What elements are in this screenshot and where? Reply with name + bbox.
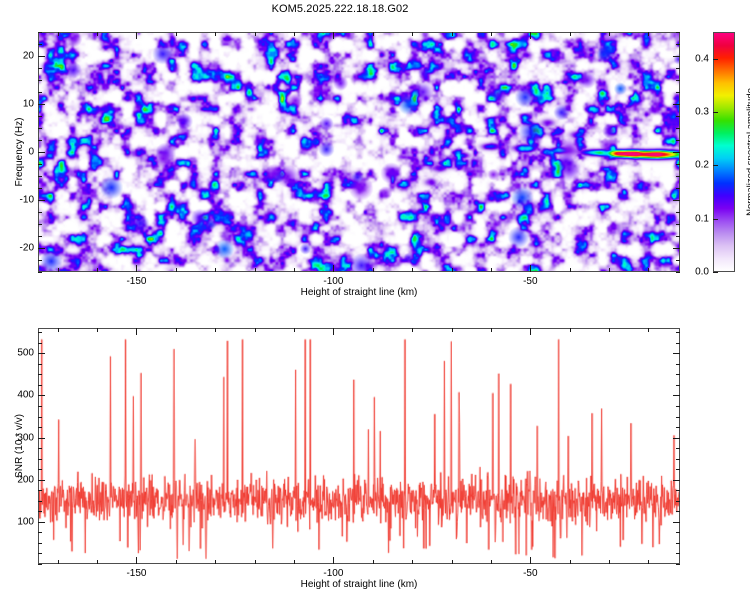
x-tick-minor (412, 560, 413, 564)
snr-y-axis-label: SNR (10 * v/v) (14, 414, 25, 478)
y-tick-minor-right (676, 92, 680, 93)
x-tick-minor (373, 268, 374, 272)
figure-root: KOM5.2025.222.18.18.G02 -150-100-5020100… (0, 0, 750, 600)
y-tick-minor (38, 417, 42, 418)
x-tick-minor (58, 560, 59, 564)
x-tick-minor-top (412, 328, 413, 332)
x-tick-minor (373, 560, 374, 564)
x-tick-minor-top (97, 32, 98, 36)
y-tick-minor-right (676, 532, 680, 533)
colorbar-tick (713, 59, 718, 60)
colorbar-label: Normalized spectral amplitude (745, 88, 750, 216)
snr-x-axis-label: Height of straight line (km) (301, 579, 418, 590)
x-tick-major (530, 265, 531, 272)
x-tick-minor-top (215, 32, 216, 36)
y-tick-label: -10 (4, 195, 34, 206)
y-tick-major-right (673, 395, 680, 396)
snr-plot (38, 328, 680, 564)
x-tick-minor-top (255, 32, 256, 36)
x-tick-minor-top (570, 328, 571, 332)
y-tick-minor (38, 44, 42, 45)
x-tick-minor (491, 268, 492, 272)
x-tick-minor-top (609, 32, 610, 36)
y-tick-minor (38, 406, 42, 407)
colorbar-tick (713, 219, 718, 220)
y-tick-major-right (673, 353, 680, 354)
y-tick-minor (38, 343, 42, 344)
page-title: KOM5.2025.222.18.18.G02 (0, 3, 680, 15)
x-tick-label: -150 (126, 568, 146, 579)
x-tick-minor (648, 560, 649, 564)
y-tick-minor (38, 564, 42, 565)
y-tick-label: 10 (4, 99, 34, 110)
x-tick-minor-top (412, 32, 413, 36)
x-tick-label: -50 (523, 276, 537, 287)
y-tick-minor (38, 532, 42, 533)
x-tick-minor-top (452, 32, 453, 36)
colorbar-tick-label: 0.0 (679, 267, 709, 278)
x-tick-minor-top (648, 328, 649, 332)
x-tick-minor-top (215, 328, 216, 332)
y-tick-major-right (673, 480, 680, 481)
spectrogram-y-axis-label: Frequency (Hz) (14, 118, 25, 187)
y-tick-minor (38, 164, 42, 165)
x-tick-minor-top (58, 328, 59, 332)
y-tick-minor (38, 188, 42, 189)
y-tick-minor (38, 427, 42, 428)
spectrogram-x-axis-label: Height of straight line (km) (301, 287, 418, 298)
x-tick-minor-top (176, 328, 177, 332)
x-tick-minor (255, 560, 256, 564)
y-tick-minor-right (676, 188, 680, 189)
y-tick-minor-right (676, 459, 680, 460)
y-tick-major-right (673, 248, 680, 249)
y-tick-minor-right (676, 32, 680, 33)
y-tick-major (38, 438, 45, 439)
y-tick-minor (38, 469, 42, 470)
x-tick-minor-top (609, 328, 610, 332)
y-tick-major (38, 104, 45, 105)
y-tick-minor (38, 128, 42, 129)
x-tick-minor (491, 560, 492, 564)
colorbar-tick (713, 112, 718, 113)
y-tick-label: 100 (4, 516, 34, 527)
y-tick-minor (38, 212, 42, 213)
y-tick-minor-right (676, 564, 680, 565)
y-tick-major-right (673, 522, 680, 523)
y-tick-minor-right (676, 343, 680, 344)
y-tick-minor-right (676, 469, 680, 470)
x-tick-minor-top (294, 32, 295, 36)
x-tick-major-top (333, 328, 334, 335)
y-tick-major-right (673, 200, 680, 201)
y-tick-label: 400 (4, 390, 34, 401)
y-tick-major (38, 200, 45, 201)
x-tick-minor (570, 560, 571, 564)
x-tick-major (333, 265, 334, 272)
y-tick-minor (38, 140, 42, 141)
y-tick-minor (38, 374, 42, 375)
x-tick-minor (215, 268, 216, 272)
y-tick-minor-right (676, 448, 680, 449)
y-tick-minor-right (676, 68, 680, 69)
x-tick-minor (294, 268, 295, 272)
y-tick-minor-right (676, 501, 680, 502)
y-tick-major (38, 480, 45, 481)
colorbar-tick (713, 165, 718, 166)
x-tick-minor (609, 268, 610, 272)
x-tick-minor (609, 560, 610, 564)
x-tick-minor-top (491, 328, 492, 332)
y-tick-minor-right (676, 260, 680, 261)
y-tick-minor-right (676, 176, 680, 177)
x-tick-major (530, 557, 531, 564)
spectrogram-image (39, 33, 679, 271)
x-tick-major-top (136, 328, 137, 335)
y-tick-minor-right (676, 236, 680, 237)
x-tick-minor-top (373, 32, 374, 36)
x-tick-major-top (530, 328, 531, 335)
x-tick-major-top (136, 32, 137, 39)
y-tick-minor-right (676, 490, 680, 491)
y-tick-label: 20 (4, 51, 34, 62)
y-tick-minor (38, 176, 42, 177)
y-tick-minor (38, 116, 42, 117)
snr-trace (39, 329, 679, 563)
y-tick-major (38, 353, 45, 354)
y-tick-minor-right (676, 543, 680, 544)
y-tick-major (38, 152, 45, 153)
x-tick-minor-top (570, 32, 571, 36)
x-tick-major-top (530, 32, 531, 39)
colorbar-tick (713, 272, 718, 273)
x-tick-major (136, 265, 137, 272)
y-tick-minor-right (676, 553, 680, 554)
colorbar-gradient (714, 33, 734, 271)
y-tick-minor (38, 364, 42, 365)
x-tick-label: -50 (523, 568, 537, 579)
x-tick-minor-top (373, 328, 374, 332)
y-tick-minor-right (676, 511, 680, 512)
x-tick-minor (176, 560, 177, 564)
y-tick-minor-right (676, 128, 680, 129)
y-tick-major-right (673, 104, 680, 105)
x-tick-minor-top (97, 328, 98, 332)
y-tick-minor (38, 511, 42, 512)
y-tick-minor (38, 272, 42, 273)
y-tick-major-right (673, 438, 680, 439)
x-tick-minor (255, 268, 256, 272)
colorbar-tick-label: 0.3 (679, 107, 709, 118)
y-tick-minor-right (676, 385, 680, 386)
y-tick-minor-right (676, 44, 680, 45)
y-tick-minor (38, 385, 42, 386)
x-tick-major (333, 557, 334, 564)
x-tick-minor (176, 268, 177, 272)
y-tick-minor (38, 490, 42, 491)
x-tick-minor-top (452, 328, 453, 332)
y-tick-minor-right (676, 427, 680, 428)
y-tick-minor (38, 448, 42, 449)
y-tick-minor (38, 260, 42, 261)
y-tick-major (38, 248, 45, 249)
x-tick-minor (648, 268, 649, 272)
y-tick-minor (38, 68, 42, 69)
x-tick-minor (452, 560, 453, 564)
y-tick-major (38, 522, 45, 523)
y-tick-minor (38, 332, 42, 333)
y-tick-minor (38, 543, 42, 544)
x-tick-major (136, 557, 137, 564)
y-tick-minor-right (676, 374, 680, 375)
y-tick-minor (38, 459, 42, 460)
x-tick-label: -100 (323, 568, 343, 579)
y-tick-minor-right (676, 406, 680, 407)
y-tick-label: 500 (4, 348, 34, 359)
colorbar (713, 32, 735, 272)
spectrogram-plot (38, 32, 680, 272)
y-tick-minor (38, 501, 42, 502)
x-tick-label: -100 (323, 276, 343, 287)
x-tick-minor-top (294, 328, 295, 332)
x-tick-major-top (333, 32, 334, 39)
x-tick-minor (58, 268, 59, 272)
x-tick-minor (294, 560, 295, 564)
colorbar-tick-label: 0.2 (679, 160, 709, 171)
x-tick-minor-top (648, 32, 649, 36)
y-tick-label: -20 (4, 243, 34, 254)
y-tick-minor-right (676, 332, 680, 333)
x-tick-minor-top (176, 32, 177, 36)
x-tick-minor-top (58, 32, 59, 36)
y-tick-major (38, 56, 45, 57)
y-tick-major-right (673, 152, 680, 153)
y-tick-minor (38, 92, 42, 93)
x-tick-minor-top (255, 328, 256, 332)
x-tick-minor (97, 560, 98, 564)
y-tick-minor (38, 80, 42, 81)
x-tick-minor (452, 268, 453, 272)
y-tick-minor-right (676, 140, 680, 141)
colorbar-tick-label: 0.4 (679, 53, 709, 64)
x-tick-minor (570, 268, 571, 272)
colorbar-tick-label: 0.1 (679, 213, 709, 224)
x-tick-minor (412, 268, 413, 272)
x-tick-minor (97, 268, 98, 272)
y-tick-minor (38, 32, 42, 33)
x-tick-minor (215, 560, 216, 564)
y-tick-minor (38, 224, 42, 225)
y-tick-minor-right (676, 417, 680, 418)
x-tick-label: -150 (126, 276, 146, 287)
y-tick-minor-right (676, 80, 680, 81)
x-tick-minor-top (491, 32, 492, 36)
y-tick-minor-right (676, 364, 680, 365)
y-tick-minor (38, 553, 42, 554)
y-tick-minor (38, 236, 42, 237)
y-tick-major (38, 395, 45, 396)
